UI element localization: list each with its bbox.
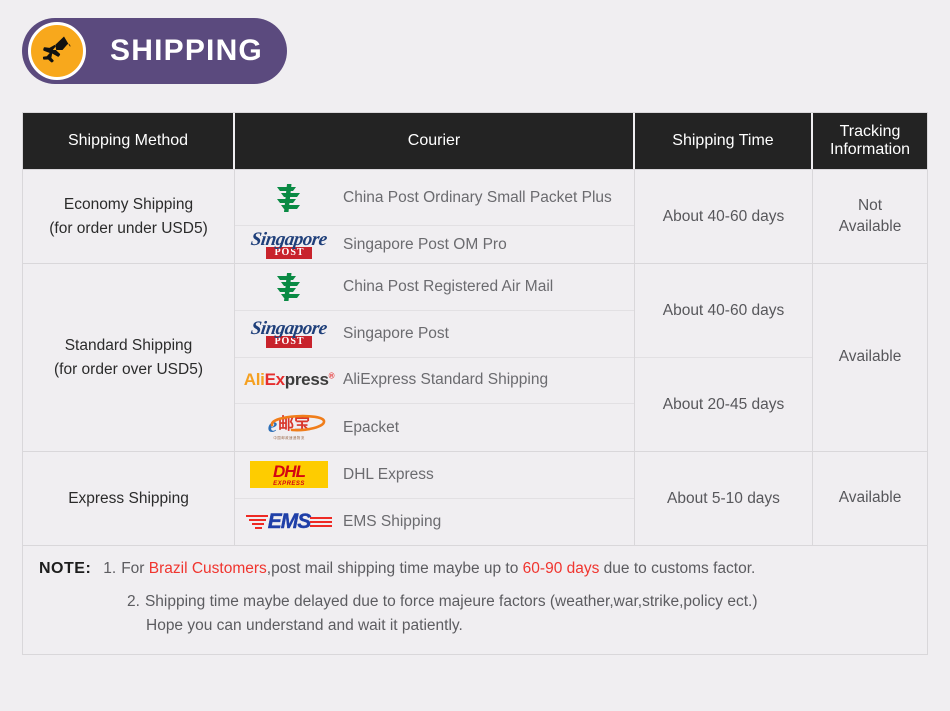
- note-1-part-2: ,post mail shipping time maybe up to: [267, 560, 523, 577]
- note-2-line-2: Hope you can understand and wait it pati…: [146, 617, 463, 634]
- table-row-group-standard: Standard Shipping (for order over USD5): [23, 263, 927, 451]
- courier-item: China Post Registered Air Mail: [235, 264, 634, 311]
- courier-item: AliExpress® AliExpress Standard Shipping: [235, 358, 634, 405]
- cell-tracking-info: Available: [813, 452, 927, 545]
- cell-tracking-info: Available: [813, 264, 927, 451]
- ems-logo: EMS: [235, 511, 343, 532]
- cell-shipping-times: About 40-60 days: [635, 170, 813, 263]
- courier-item: EMS EMS Shipping: [235, 499, 634, 546]
- method-line-1: Standard Shipping: [65, 337, 193, 354]
- ems-right-bars: [310, 517, 332, 527]
- dhl-logo: DHL EXPRESS: [235, 461, 343, 488]
- column-header-courier: Courier: [235, 113, 635, 169]
- column-header-shipping-time: Shipping Time: [635, 113, 813, 169]
- shipping-time-value: About 5-10 days: [635, 452, 812, 545]
- cell-couriers: China Post Registered Air Mail Singapore…: [235, 264, 635, 451]
- china-post-logo: [235, 270, 343, 304]
- ali-trademark: ®: [329, 372, 335, 381]
- method-line-1: Economy Shipping: [64, 196, 193, 213]
- column-header-tracking-info: Tracking Information: [813, 113, 927, 169]
- shipping-time-value: About 20-45 days: [635, 358, 812, 451]
- note-1-number: 1.: [103, 560, 116, 577]
- cell-tracking-info: Not Available: [813, 170, 927, 263]
- shipping-header-badge: SHIPPING: [22, 18, 287, 84]
- column-header-shipping-method: Shipping Method: [23, 113, 235, 169]
- courier-name: Epacket: [343, 418, 407, 438]
- courier-item: China Post Ordinary Small Packet Plus: [235, 170, 634, 226]
- epacket-logo: e 邮宝 中国邮政速递物流: [235, 415, 343, 441]
- airplane-icon: [28, 22, 86, 80]
- courier-name: Singapore Post: [343, 324, 457, 344]
- cell-shipping-times: About 40-60 days About 20-45 days: [635, 264, 813, 451]
- cell-shipping-method: Standard Shipping (for order over USD5): [23, 264, 235, 451]
- note-1-highlight-brazil: Brazil Customers: [149, 560, 267, 577]
- courier-item: Singapore POST Singapore Post OM Pro: [235, 226, 634, 263]
- courier-item: e 邮宝 中国邮政速递物流 Epacket: [235, 404, 634, 451]
- dhl-subtext: EXPRESS: [273, 481, 305, 487]
- ems-text: EMS: [268, 511, 311, 532]
- courier-name: China Post Registered Air Mail: [343, 277, 561, 297]
- note-1-part-3: due to customs factor.: [599, 560, 755, 577]
- ali-text-part: Ali: [244, 370, 265, 389]
- shipping-table: Shipping Method Courier Shipping Time Tr…: [22, 112, 928, 655]
- courier-name: China Post Ordinary Small Packet Plus: [343, 188, 620, 208]
- ali-text-part: press: [285, 370, 329, 389]
- sp-script-text: Singapore: [250, 230, 328, 249]
- note-section: NOTE: 1.For Brazil Customers,post mail s…: [23, 545, 927, 654]
- page-title: SHIPPING: [110, 34, 263, 68]
- courier-name: DHL Express: [343, 465, 442, 485]
- note-2-number: 2.: [127, 593, 140, 610]
- tracking-line-2: Available: [839, 218, 902, 235]
- ali-text-part: Ex: [265, 370, 285, 389]
- sp-script-text: Singapore: [250, 319, 328, 338]
- table-row-group-express: Express Shipping DHL EXPRESS DHL Express: [23, 451, 927, 545]
- table-row-group-economy: Economy Shipping (for order under USD5): [23, 169, 927, 263]
- china-post-logo: [235, 181, 343, 215]
- cell-couriers: DHL EXPRESS DHL Express EMS: [235, 452, 635, 545]
- shipping-time-value: About 40-60 days: [635, 264, 812, 358]
- note-1-part-1: For: [121, 560, 149, 577]
- cell-shipping-method: Economy Shipping (for order under USD5): [23, 170, 235, 263]
- method-line-2: (for order under USD5): [49, 220, 208, 237]
- table-header-row: Shipping Method Courier Shipping Time Tr…: [23, 113, 927, 169]
- note-label: NOTE:: [39, 560, 91, 578]
- tracking-line-1: Not: [858, 197, 882, 214]
- cell-shipping-method: Express Shipping: [23, 452, 235, 545]
- badge-pill: SHIPPING: [22, 18, 287, 84]
- shipping-time-value: About 40-60 days: [635, 170, 812, 263]
- courier-item: Singapore POST Singapore Post: [235, 311, 634, 358]
- epacket-subtext: 中国邮政速递物流: [273, 437, 304, 441]
- cell-shipping-times: About 5-10 days: [635, 452, 813, 545]
- ems-left-bars: [246, 515, 268, 529]
- singapore-post-logo: Singapore POST: [235, 319, 343, 348]
- note-2-line-1: Shipping time maybe delayed due to force…: [145, 593, 758, 610]
- note-item-1-text: 1.For Brazil Customers,post mail shippin…: [103, 560, 755, 578]
- note-item-2: 2.Shipping time maybe delayed due to for…: [127, 590, 911, 638]
- note-item-1: NOTE: 1.For Brazil Customers,post mail s…: [39, 560, 911, 578]
- courier-name: EMS Shipping: [343, 512, 449, 532]
- note-1-highlight-days: 60-90 days: [523, 560, 600, 577]
- shipping-info-page: SHIPPING Shipping Method Courier Shippin…: [0, 0, 950, 711]
- method-line-2: (for order over USD5): [54, 361, 203, 378]
- cell-couriers: China Post Ordinary Small Packet Plus Si…: [235, 170, 635, 263]
- courier-item: DHL EXPRESS DHL Express: [235, 452, 634, 499]
- courier-name: AliExpress Standard Shipping: [343, 370, 556, 390]
- courier-name: Singapore Post OM Pro: [343, 235, 515, 255]
- singapore-post-logo: Singapore POST: [235, 230, 343, 259]
- aliexpress-logo: AliExpress®: [235, 370, 343, 390]
- dhl-text: DHL: [273, 463, 305, 480]
